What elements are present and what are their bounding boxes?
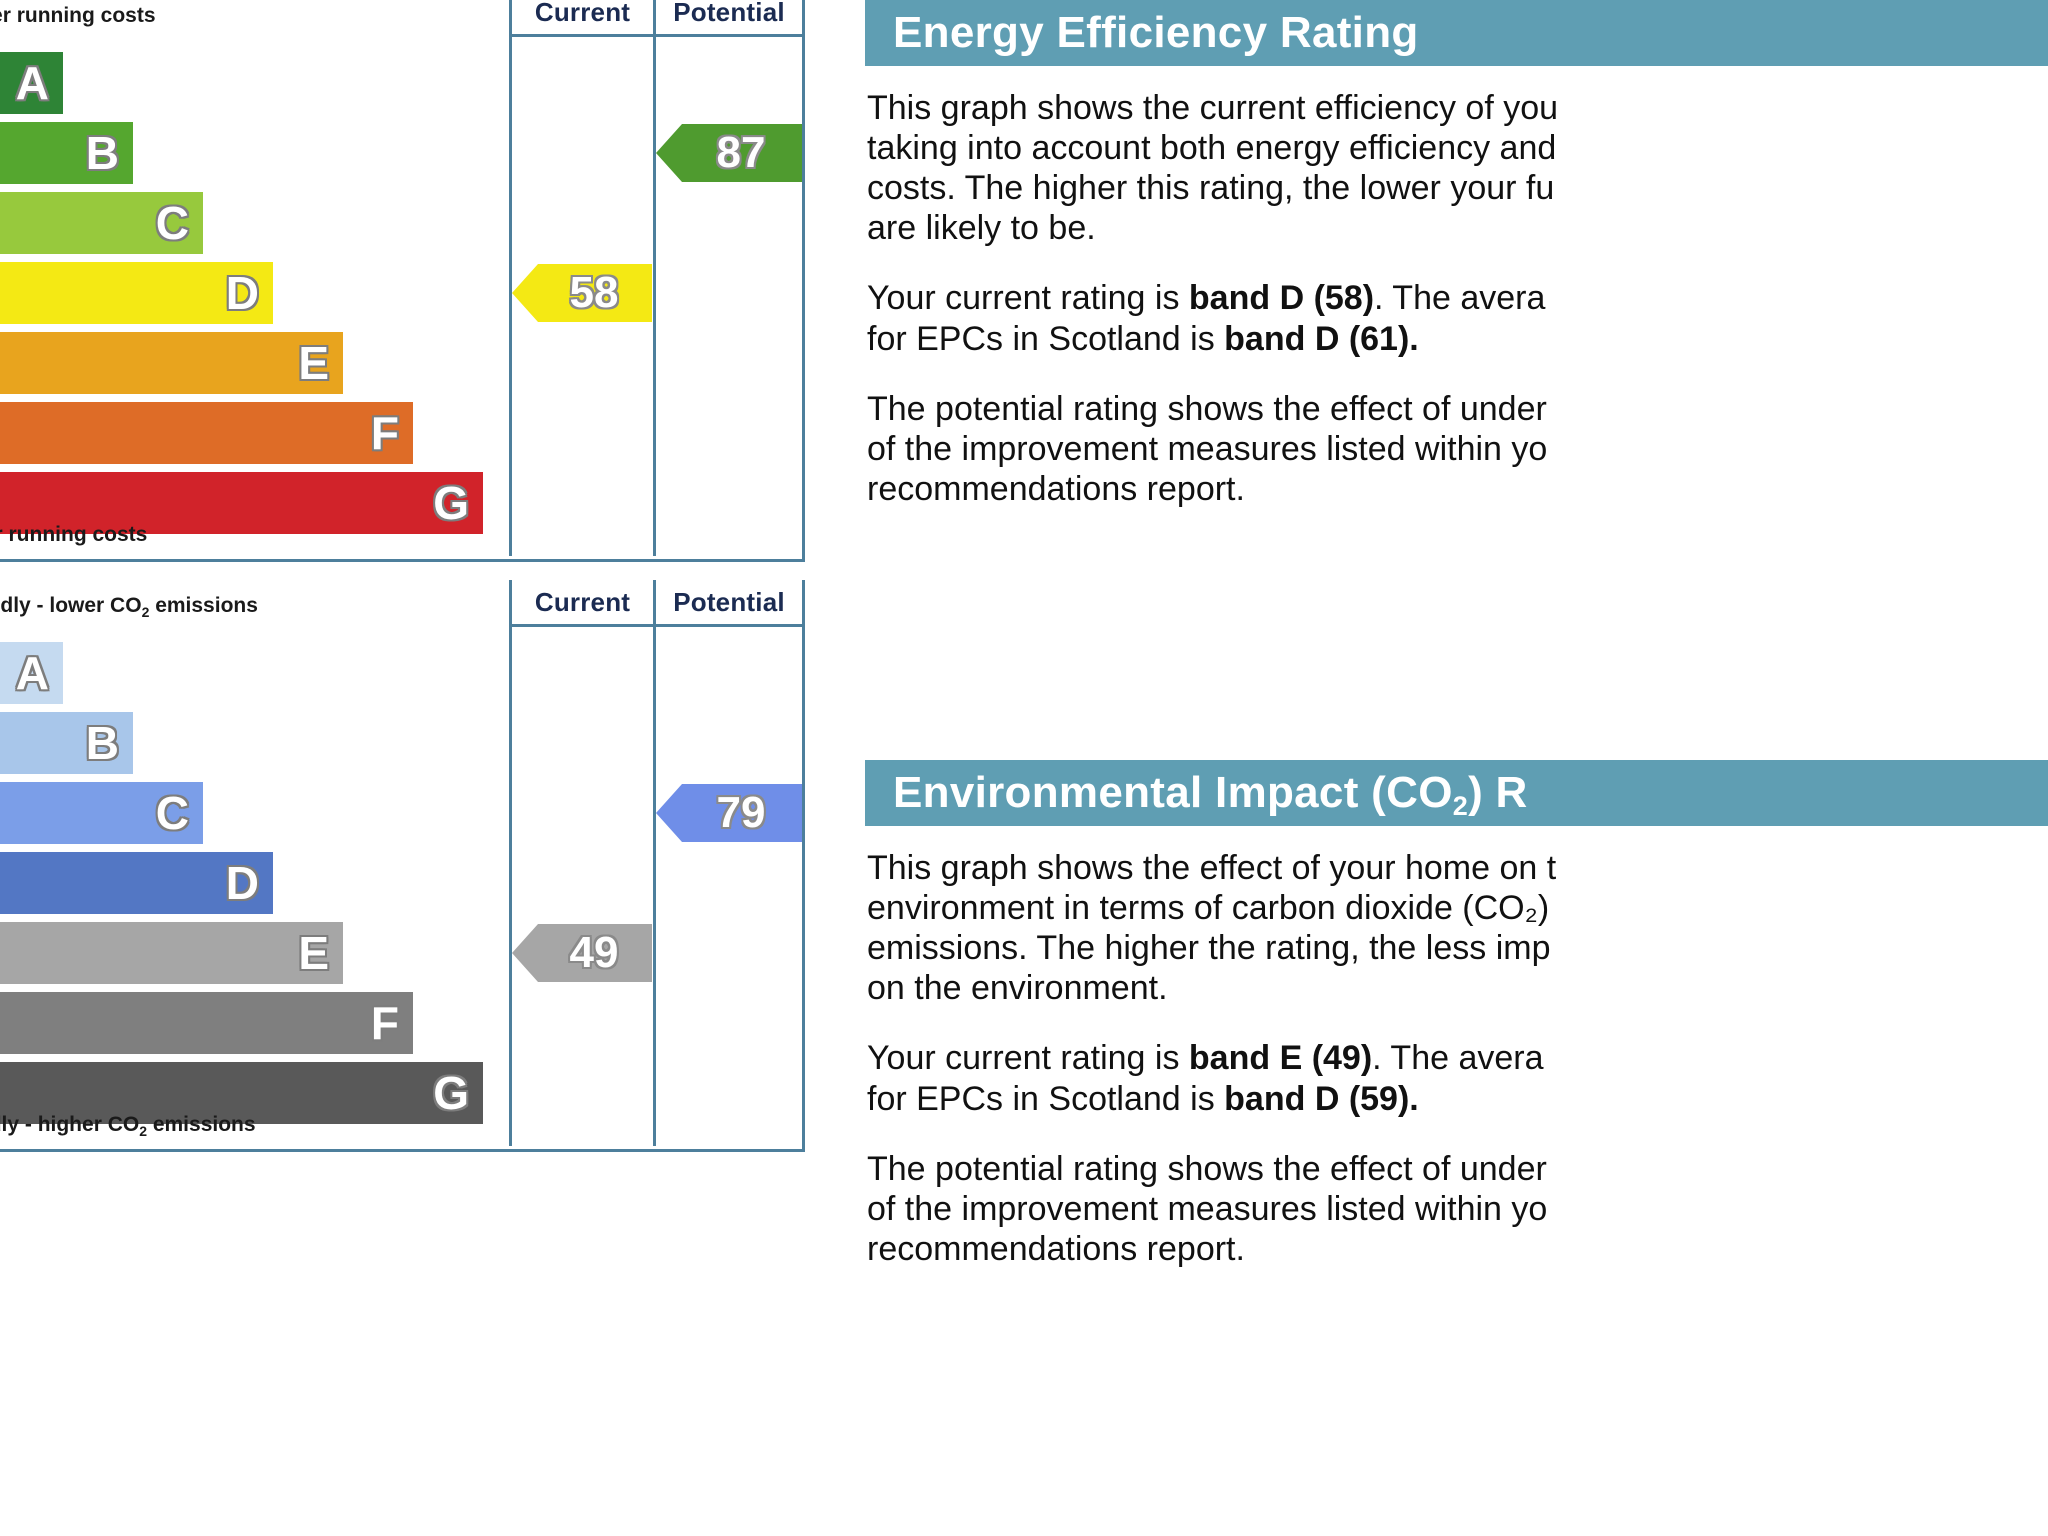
body-text: . The avera [1374,279,1545,317]
energy-paragraph-3: The potential rating shows the effect of… [867,389,2045,509]
co2-paragraph-1: This graph shows the effect of your home… [867,848,2045,1008]
body-text: for EPCs in Scotland is [867,320,1224,358]
energy-current-rating-arrow: 58 [512,264,652,322]
epc-graphs-page: ...icient - lower running costs Current … [0,0,2048,1536]
energy-paragraph-1: This graph shows the current efficiency … [867,88,2045,248]
band-bar-b: B [0,122,133,184]
band-letter-e: E [298,340,329,386]
co2-panel-body: This graph shows the effect of your home… [845,826,2045,1269]
co2-caption-bottom: ...ntally friendly - higher CO2 emission… [0,1113,256,1137]
emphasised-text: band D (61). [1224,320,1419,358]
energy-col-separator-3 [802,37,805,556]
emphasised-text: band D (58) [1189,279,1374,317]
energy-paragraph-2: Your current rating is band D (58). The … [867,278,2045,358]
energy-panel-title: Energy Efficiency Rating [893,8,1419,58]
energy-potential-rating-arrow: 87 [656,124,802,182]
band-letter-c: C [156,790,189,836]
band-bar-f: F [0,402,413,464]
co2-band-list: ABCDEFG [0,642,509,1132]
body-text: taking into account both energy efficien… [867,129,1556,167]
co2-panel-title: Environmental Impact (CO2) R [893,768,1528,818]
band-letter-c: C [156,200,189,246]
co2-panel-title-text: Environmental Impact (CO [893,768,1453,817]
energy-col-potential-header: Potential [653,0,805,37]
co2-caption-bottom-text: ...ntally friendly - higher CO [0,1113,139,1136]
band-letter-b: B [86,130,119,176]
emphasised-text: band E (49) [1189,1039,1372,1077]
co2-col-separator-2 [653,627,656,1146]
co2-paragraph-3: The potential rating shows the effect of… [867,1149,2045,1269]
band-bar-c: C [0,782,203,844]
band-bar-c: C [0,192,203,254]
band-letter-d: D [226,270,259,316]
energy-efficiency-text-panel: Energy Efficiency Rating This graph show… [845,0,2045,539]
body-text: recommendations report. [867,1230,1245,1268]
body-text: on the environment. [867,969,1168,1007]
band-bar-f: F [0,992,413,1054]
co2-potential-rating-arrow: 79 [656,784,802,842]
band-bar-b: B [0,712,133,774]
energy-current-rating-value: 58 [570,271,619,315]
co2-current-rating-value: 49 [570,931,619,975]
band-bar-d: D [0,262,273,324]
energy-col-current-header: Current [509,0,653,37]
body-text: This graph shows the current efficiency … [867,89,1558,127]
band-letter-e: E [298,930,329,976]
band-bar-a: A [0,642,63,704]
band-bar-d: D [0,852,273,914]
body-text: Your current rating is [867,279,1189,317]
band-bar-e: E [0,922,343,984]
body-text: Your current rating is [867,1039,1189,1077]
band-letter-f: F [371,1000,399,1046]
band-letter-d: D [226,860,259,906]
body-text: environment in terms of carbon dioxide (… [867,889,1549,927]
co2-col-separator-3 [802,627,805,1146]
body-text: costs. The higher this rating, the lower… [867,169,1554,207]
co2-panel-header: Environmental Impact (CO2) R [865,760,2048,826]
body-text: . The avera [1372,1039,1543,1077]
body-text: The potential rating shows the effect of… [867,1150,1547,1188]
body-text: for EPCs in Scotland is [867,1080,1224,1118]
body-text: of the improvement measures listed withi… [867,1190,1547,1228]
band-bar-a: A [0,52,63,114]
band-letter-g: G [433,480,469,526]
emphasised-text: band D (59). [1224,1080,1419,1118]
co2-graph-frame: ...entally friendly - lower CO2 emission… [0,580,805,1152]
energy-caption-bottom: ...ient - higher running costs [0,523,147,547]
co2-current-rating-arrow: 49 [512,924,652,982]
co2-panel-title-suffix: ) R [1468,768,1528,817]
co2-panel-title-sub: 2 [1453,791,1468,821]
co2-column-headers: Current Potential [0,580,808,627]
band-letter-a: A [16,650,49,696]
band-letter-a: A [16,60,49,106]
band-bar-e: E [0,332,343,394]
energy-graph-frame: ...icient - lower running costs Current … [0,0,805,562]
co2-caption-bottom-sub: 2 [139,1123,147,1139]
environmental-impact-graph-block: ...entally friendly - lower CO2 emission… [0,580,805,1152]
energy-potential-rating-value: 87 [717,131,766,175]
band-letter-b: B [86,720,119,766]
body-text: are likely to be. [867,209,1096,247]
band-letter-f: F [371,410,399,456]
energy-column-headers: Current Potential [0,0,808,37]
energy-panel-body: This graph shows the current efficiency … [845,66,2045,509]
energy-col-separator-2 [653,37,656,556]
body-text: of the improvement measures listed withi… [867,430,1547,468]
energy-panel-header: Energy Efficiency Rating [865,0,2048,66]
co2-caption-bottom-suffix: emissions [147,1113,256,1136]
body-text: The potential rating shows the effect of… [867,390,1547,428]
co2-col-current-header: Current [509,580,653,627]
co2-col-potential-header: Potential [653,580,805,627]
band-letter-g: G [433,1070,469,1116]
co2-paragraph-2: Your current rating is band E (49). The … [867,1038,2045,1118]
body-text: emissions. The higher the rating, the le… [867,929,1551,967]
body-text: recommendations report. [867,470,1245,508]
energy-col-separator-1 [509,37,512,556]
co2-potential-rating-value: 79 [717,791,766,835]
co2-col-separator-1 [509,627,512,1146]
energy-band-list: ABCDEFG [0,52,509,542]
environmental-impact-text-panel: Environmental Impact (CO2) R This graph … [845,760,2045,1299]
body-text: This graph shows the effect of your home… [867,849,1556,887]
energy-efficiency-graph-block: ...icient - lower running costs Current … [0,0,805,562]
